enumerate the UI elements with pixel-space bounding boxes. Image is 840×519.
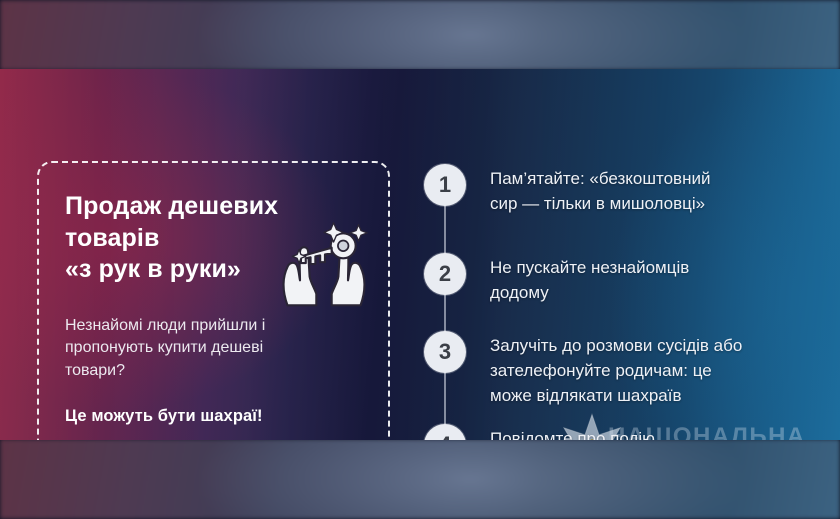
poster-canvas: НАЦІОНАЛЬНА ПОЛІЦІЯ [0,0,840,519]
steps-list: 1 Пам’ятайте: «безкоштовний сир — тільки… [424,164,824,440]
step-text-4-lead: Повідомте про подію поліцейським за номе… [490,429,698,440]
poster-main-panel: НАЦІОНАЛЬНА ПОЛІЦІЯ [0,69,840,440]
step-text-3: Залучіть до розмови сусідів або зателефо… [490,333,742,408]
step-number-3: 3 [424,331,466,373]
card-alert-text: Це можуть бути шахраї! [65,407,366,426]
hands-holding-key-icon [276,217,372,313]
step-text-2: Не пускайте незнайомців додому [490,255,689,305]
step-text-1: Пам’ятайте: «безкоштовний сир — тільки в… [490,166,710,216]
letterbox-top [0,0,840,70]
step-number-4: 4 [424,424,466,440]
step-number-2: 2 [424,253,466,295]
letterbox-bottom [0,439,840,519]
card-body-text: Незнайомі люди прийшли і пропонують купи… [65,315,320,383]
info-card: Продаж дешевих товарів «з рук в руки» Не… [37,161,390,440]
step-item-2: 2 Не пускайте незнайомців додому [424,253,824,305]
step-number-1: 1 [424,164,466,206]
step-item-1: 1 Пам’ятайте: «безкоштовний сир — тільки… [424,164,824,216]
step-item-4: 4 Повідомте про подію поліцейським за но… [424,424,824,440]
step-text-4: Повідомте про подію поліцейським за номе… [490,426,727,440]
info-card-content: Продаж дешевих товарів «з рук в руки» Не… [65,191,366,440]
step-item-3: 3 Залучіть до розмови сусідів або зателе… [424,331,824,408]
